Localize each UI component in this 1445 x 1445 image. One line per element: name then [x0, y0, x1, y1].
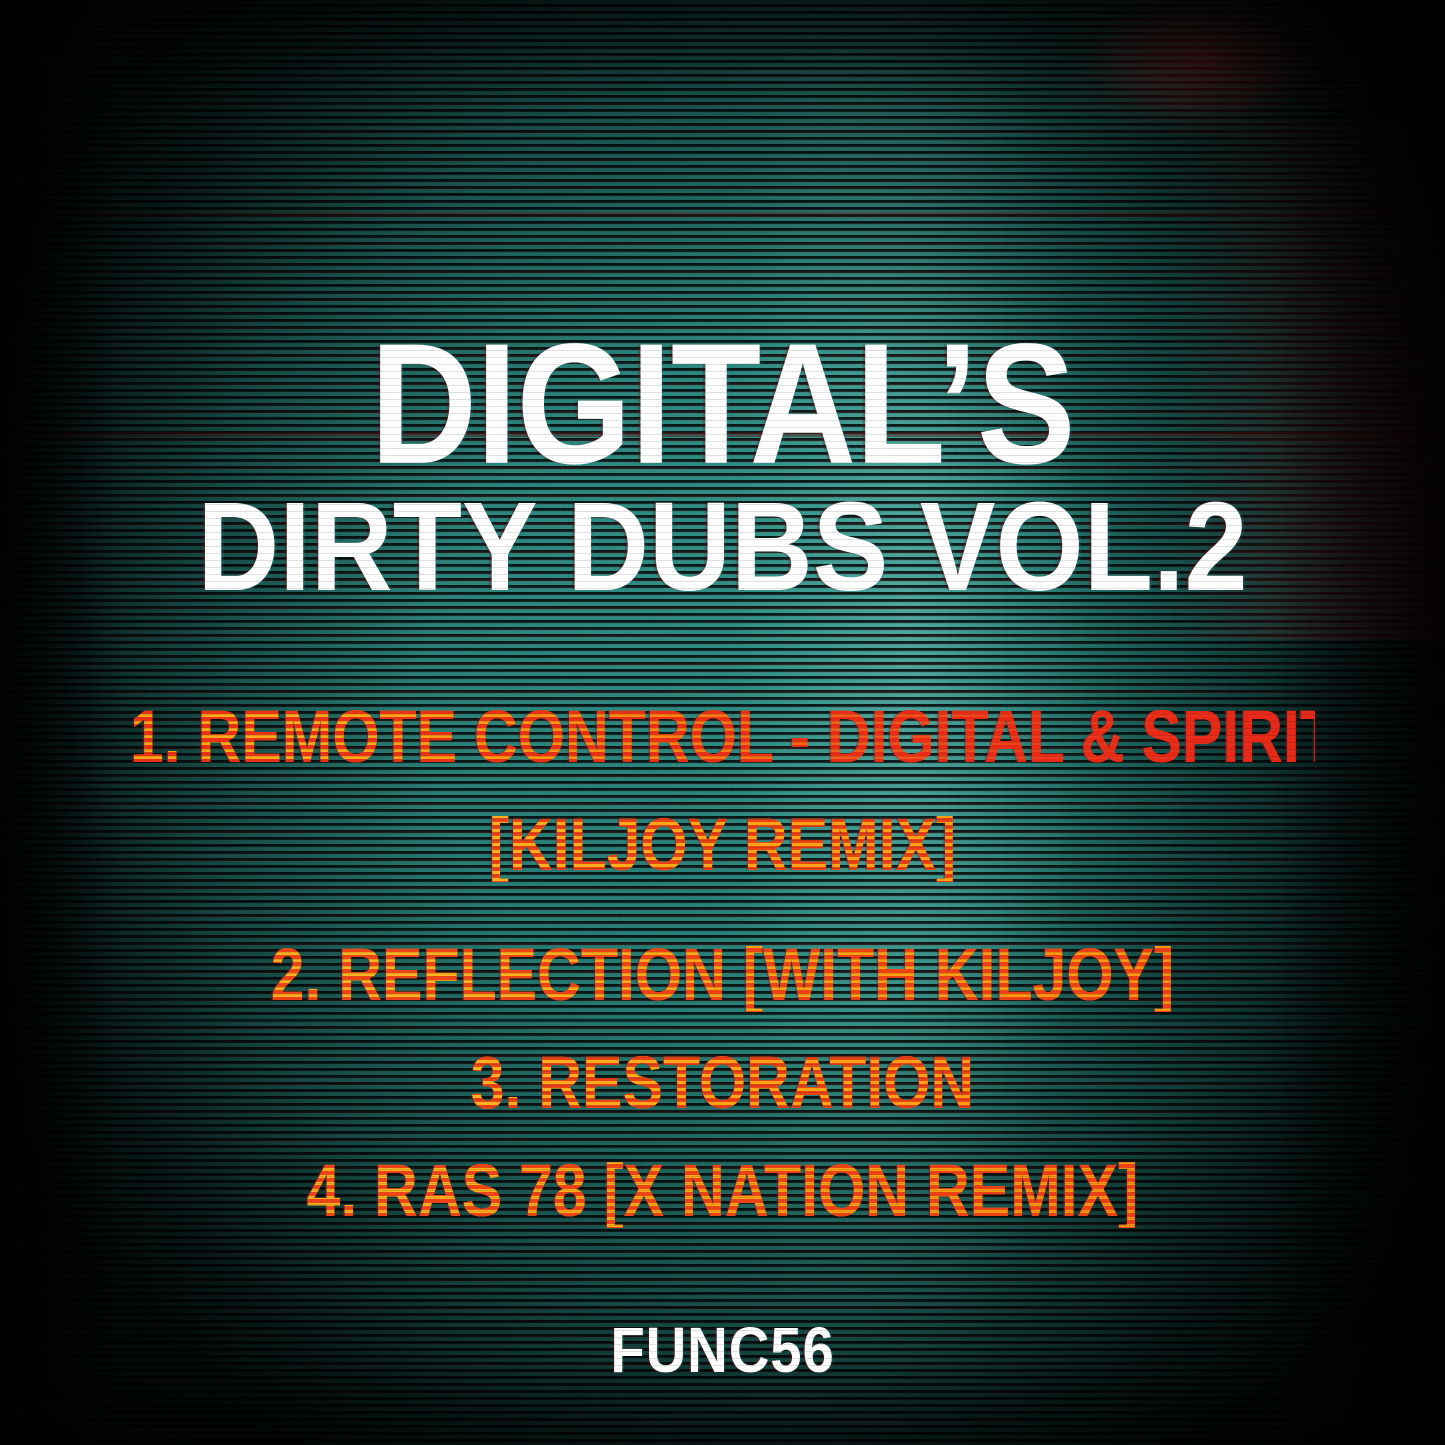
cover-content: DIGITAL’S DIRTY DUBS VOL.2 1. REMOTE CON… — [0, 0, 1445, 1445]
album-title-line-2: DIRTY DUBS VOL.2 — [72, 484, 1373, 610]
catalog-number: FUNC56 — [87, 1318, 1359, 1382]
tracklist: 1. REMOTE CONTROL - DIGITAL & SPIRIT [KI… — [0, 700, 1445, 1228]
tracklist-item: 3. RESTORATION — [130, 1046, 1315, 1120]
tracklist-item: 1. REMOTE CONTROL - DIGITAL & SPIRIT — [130, 700, 1315, 774]
tracklist-item: 2. REFLECTION [WITH KILJOY] — [130, 938, 1315, 1012]
tracklist-item: [KILJOY REMIX] — [130, 808, 1315, 882]
album-cover: DIGITAL’S DIRTY DUBS VOL.2 1. REMOTE CON… — [0, 0, 1445, 1445]
tracklist-item: 4. RAS 78 [X NATION REMIX] — [130, 1154, 1315, 1228]
album-title-line-1: DIGITAL’S — [101, 318, 1344, 490]
album-title-block: DIGITAL’S DIRTY DUBS VOL.2 — [0, 318, 1445, 610]
